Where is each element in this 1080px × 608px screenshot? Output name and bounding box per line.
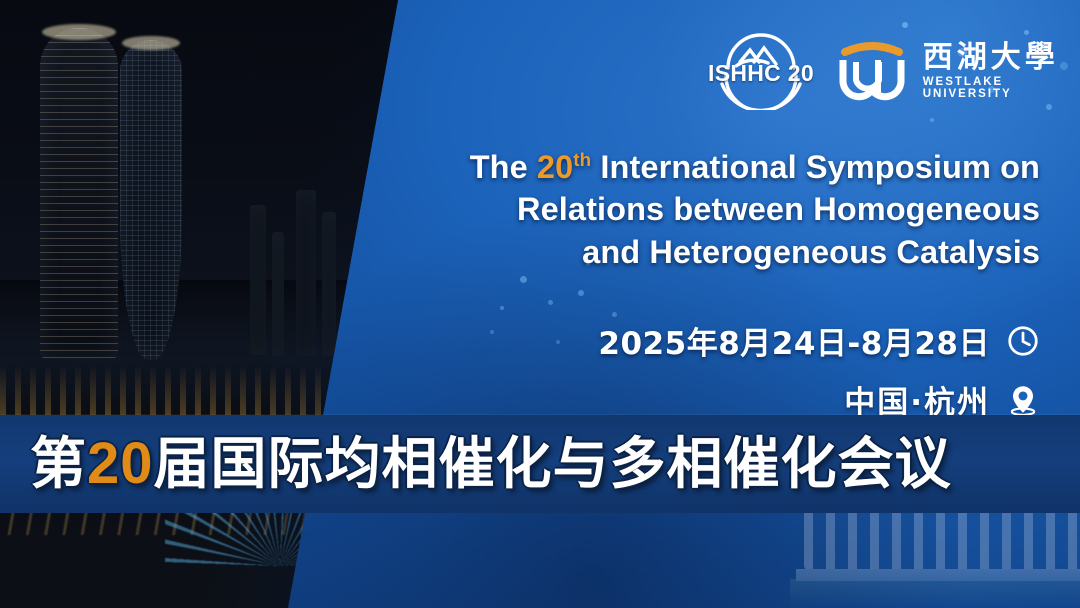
title-ordinal-number: 20 [537, 149, 573, 185]
title-line-3: and Heterogeneous Catalysis [360, 231, 1040, 273]
westlake-chinese-name: 西湖大學 [923, 42, 1080, 74]
ishhc-logo-text: ISHHC 20 [706, 60, 816, 87]
bokeh-dot [500, 306, 504, 310]
lawn [790, 579, 1080, 608]
title-line-1: The 20th International Symposium on [360, 146, 1040, 188]
headline-suffix: 届国际均相催化与多相催化会议 [154, 432, 952, 497]
title-line-2: Relations between Homogeneous [360, 188, 1040, 230]
title-line1-prefix: The [470, 149, 537, 185]
photo-shading [0, 0, 470, 608]
headline-prefix: 第 [30, 432, 87, 497]
westlake-english-name: WESTLAKE UNIVERSITY [923, 76, 1080, 100]
westlake-university-logo[interactable]: 西湖大學 WESTLAKE UNIVERSITY [835, 38, 1080, 104]
clock-icon [1006, 324, 1040, 358]
bokeh-dot [930, 118, 934, 122]
conference-poster: ISHHC 20 西湖大學 WESTLAKE UNIVERSITY The 20… [0, 0, 1080, 608]
map-pin-icon [1006, 383, 1040, 417]
event-date-row: 2025年8月24日-8月28日 [420, 318, 1040, 363]
westlake-logo-names: 西湖大學 WESTLAKE UNIVERSITY [923, 42, 1080, 101]
title-line1-suffix: International Symposium on [591, 149, 1040, 185]
event-meta: 2025年8月24日-8月28日 中国·杭州 [420, 318, 1040, 422]
building-base [796, 569, 1080, 581]
bokeh-dot [902, 22, 908, 28]
bokeh-dot [612, 312, 617, 317]
chinese-headline: 第20届国际均相催化与多相催化会议 [30, 424, 952, 505]
logo-row: ISHHC 20 西湖大學 WESTLAKE UNIVERSITY [706, 32, 1080, 110]
event-date-text: 2025年8月24日-8月28日 [598, 318, 990, 363]
hangzhou-skyline-photo [0, 0, 470, 608]
title-ordinal-suffix: th [573, 149, 591, 170]
symposium-title: The 20th International Symposium on Rela… [360, 146, 1040, 273]
ishhc-logo[interactable]: ISHHC 20 [706, 32, 809, 110]
headline-number: 20 [87, 431, 154, 496]
bokeh-dot [548, 300, 553, 305]
bokeh-dot [520, 276, 527, 283]
bokeh-dot [578, 290, 584, 296]
wu-monogram-icon [835, 38, 909, 104]
